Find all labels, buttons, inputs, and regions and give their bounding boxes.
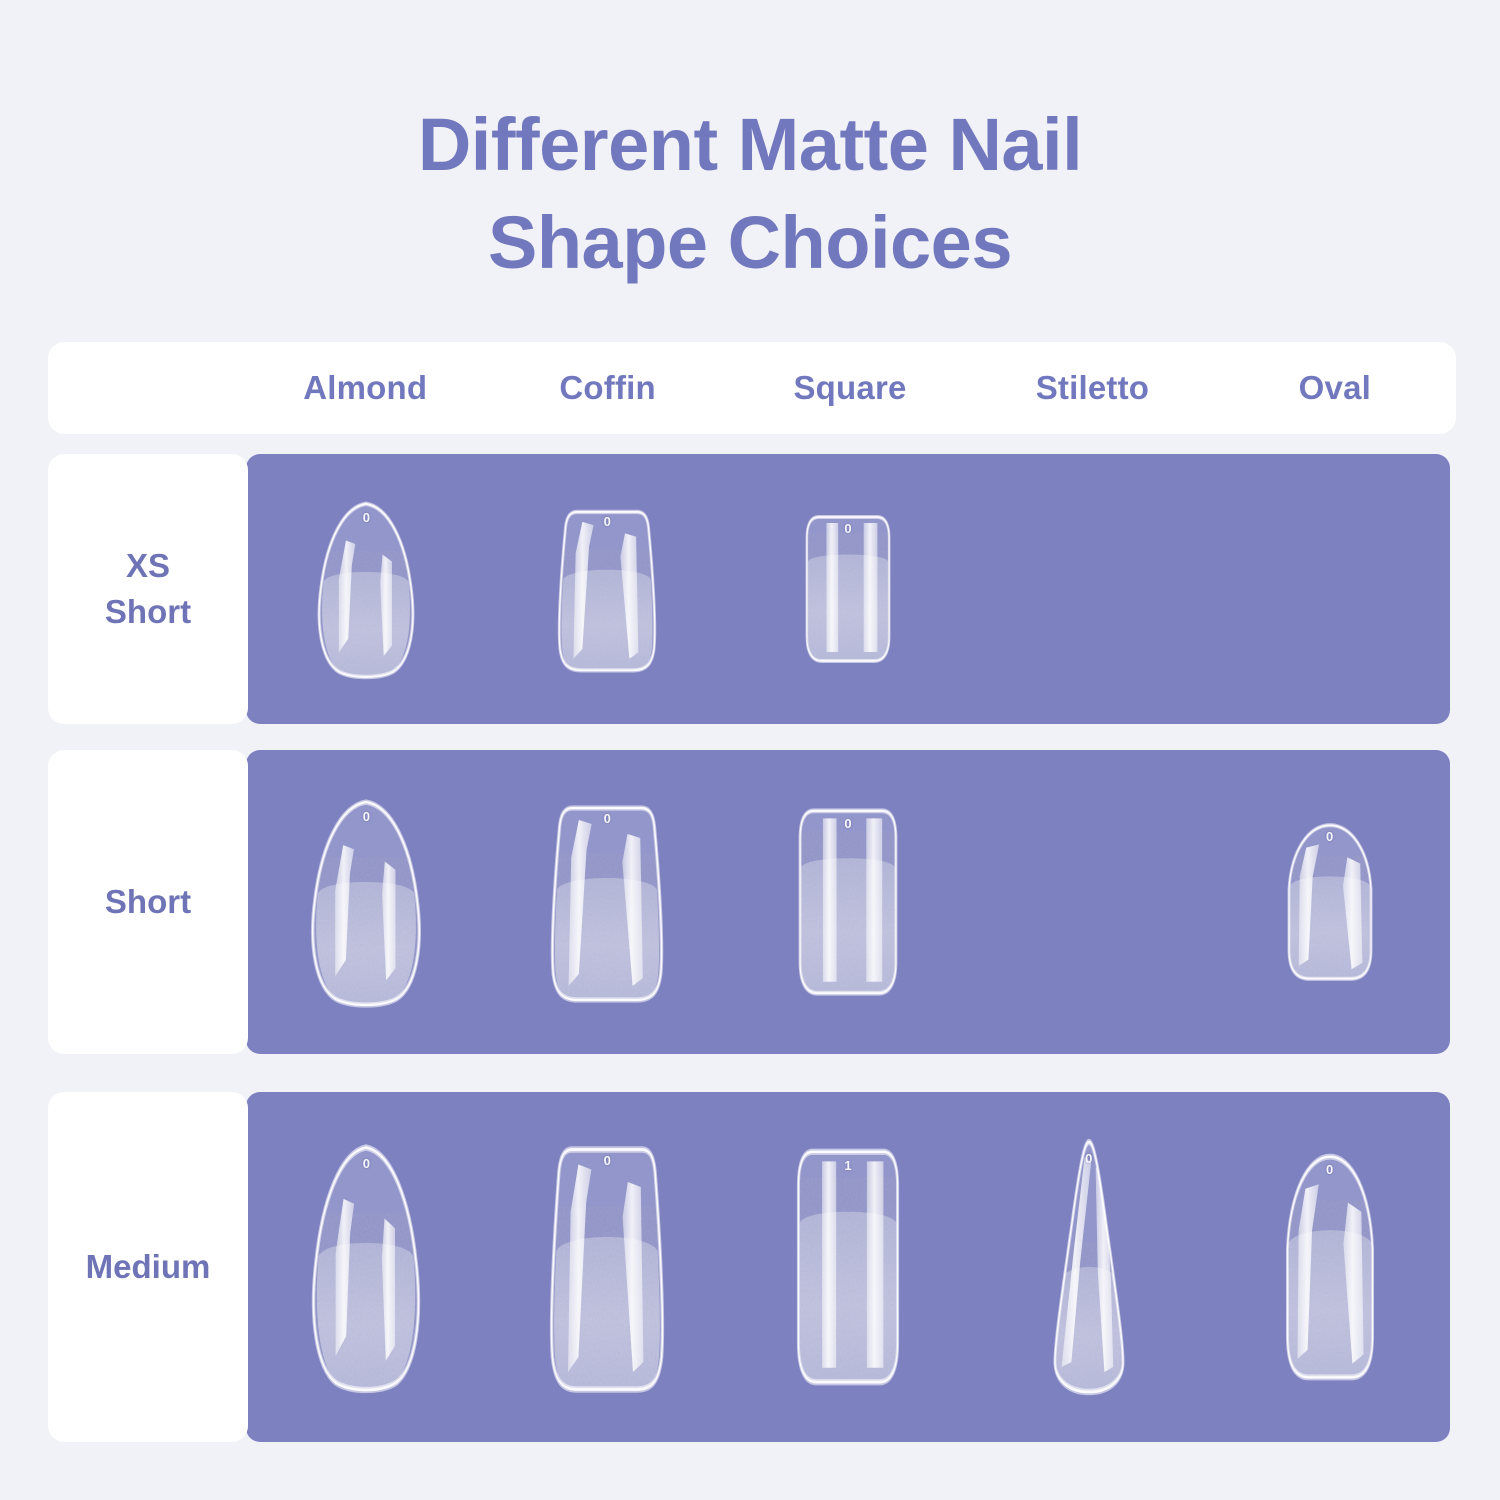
row-label-short: Short <box>48 750 248 1054</box>
nail-xs-short-almond: 0 <box>307 502 425 677</box>
cell-short-almond: 0 <box>246 750 487 1054</box>
row-label-text: Medium <box>86 1244 211 1290</box>
nail-medium-oval: 0 <box>1274 1152 1386 1382</box>
size-row-short: 0 <box>48 750 1450 1054</box>
nail-tip-oval <box>1276 822 1384 982</box>
cell-short-square: 0 <box>728 750 969 1054</box>
cell-medium-square: 1 <box>728 1092 969 1442</box>
row-label-text: Short <box>105 879 191 925</box>
nail-tip-square <box>791 807 905 997</box>
row-label-text: XS Short <box>105 543 191 634</box>
size-row-xs-short: 0 <box>48 454 1450 724</box>
nail-tip-almond <box>300 1145 432 1390</box>
cell-xs-short-coffin: 0 <box>487 454 728 724</box>
row-cells-xs-short: 0 <box>246 454 1450 724</box>
cell-medium-coffin: 0 <box>487 1092 728 1442</box>
nail-tip-almond <box>299 800 433 1005</box>
column-header-coffin: Coffin <box>486 369 728 407</box>
nail-tip-oval <box>1274 1152 1386 1382</box>
nail-tip-square <box>789 1147 907 1387</box>
cell-short-coffin: 0 <box>487 750 728 1054</box>
size-row-medium: 0 <box>48 1092 1450 1442</box>
cell-xs-short-oval <box>1209 454 1450 724</box>
nail-tip-coffin <box>551 507 663 672</box>
cell-medium-almond: 0 <box>246 1092 487 1442</box>
column-header-oval: Oval <box>1214 369 1456 407</box>
row-label-medium: Medium <box>48 1092 248 1442</box>
cell-short-stiletto <box>968 750 1209 1054</box>
row-cells-medium: 0 <box>246 1092 1450 1442</box>
column-header-square: Square <box>729 369 971 407</box>
cell-medium-stiletto: 0 <box>968 1092 1209 1442</box>
nail-short-coffin: 0 <box>543 802 671 1002</box>
nail-tip-square <box>799 514 897 664</box>
cell-xs-short-almond: 0 <box>246 454 487 724</box>
cell-short-oval: 0 <box>1209 750 1450 1054</box>
column-header-stiletto: Stiletto <box>971 369 1213 407</box>
nail-matte-core <box>322 572 410 677</box>
nail-matte-core <box>316 882 416 1005</box>
cell-medium-oval: 0 <box>1209 1092 1450 1442</box>
cell-xs-short-stiletto <box>968 454 1209 724</box>
nail-medium-square: 1 <box>789 1147 907 1387</box>
header-column-labels: Almond Coffin Square Stiletto Oval <box>244 369 1456 407</box>
nail-medium-almond: 0 <box>300 1145 432 1390</box>
row-cells-short: 0 <box>246 750 1450 1054</box>
shape-header-row: Almond Coffin Square Stiletto Oval <box>48 342 1456 434</box>
cell-xs-short-square: 0 <box>728 454 969 724</box>
page-title: Different Matte Nail Shape Choices <box>0 96 1500 291</box>
column-header-almond: Almond <box>244 369 486 407</box>
nail-tip-stiletto <box>1034 1142 1144 1392</box>
nail-short-square: 0 <box>791 807 905 997</box>
nail-matte-core <box>1055 1267 1123 1392</box>
nail-tip-coffin <box>542 1142 672 1392</box>
nail-medium-stiletto: 0 <box>1034 1142 1144 1392</box>
nail-tip-coffin <box>543 802 671 1002</box>
nail-medium-coffin: 0 <box>542 1142 672 1392</box>
nail-xs-short-square: 0 <box>799 514 897 664</box>
nail-short-almond: 0 <box>299 800 433 1005</box>
nail-short-oval: 0 <box>1276 822 1384 982</box>
row-label-xs-short: XS Short <box>48 454 248 724</box>
nail-xs-short-coffin: 0 <box>551 507 663 672</box>
nail-matte-core <box>317 1243 415 1390</box>
nail-tip-almond <box>307 502 425 677</box>
